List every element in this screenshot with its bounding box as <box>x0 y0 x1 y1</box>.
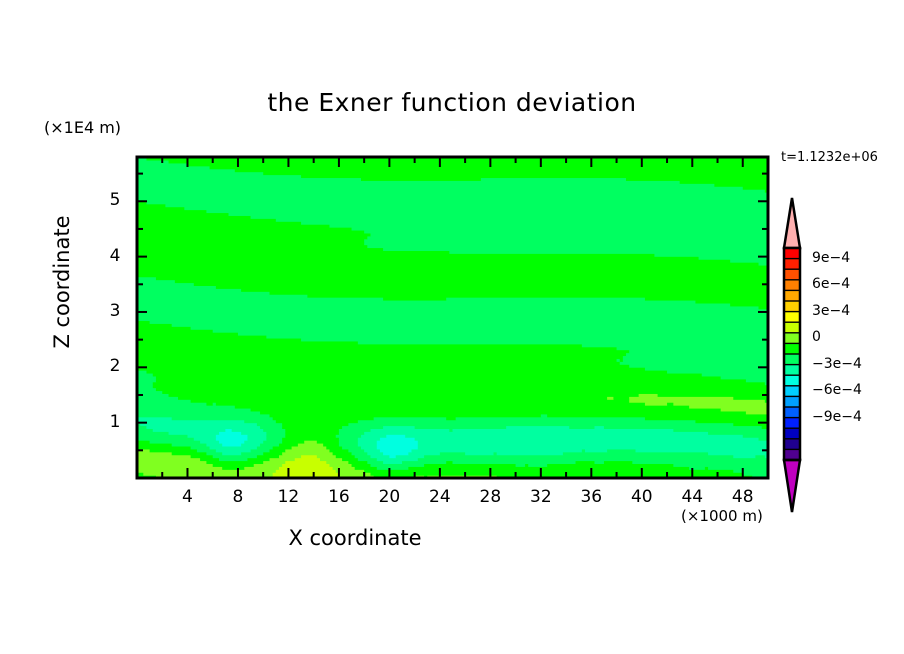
colorbar-tick-label: −9e−4 <box>812 409 862 425</box>
x-tick-label: 12 <box>268 487 308 507</box>
x-tick-label: 20 <box>369 487 409 507</box>
colorbar-tick-label: −6e−4 <box>812 382 862 398</box>
x-tick-label: 32 <box>521 487 561 507</box>
y-tick-label: 4 <box>103 246 127 266</box>
y-tick-label: 1 <box>103 412 127 432</box>
x-tick-label: 48 <box>723 487 763 507</box>
y-tick-label: 2 <box>103 356 127 376</box>
x-tick-label: 36 <box>571 487 611 507</box>
colorbar-tick-label: −3e−4 <box>812 356 862 372</box>
x-tick-label: 44 <box>672 487 712 507</box>
contour-plot-figure: the Exner function deviation (×1E4 m) t=… <box>0 0 904 654</box>
contour-field <box>0 0 904 654</box>
x-tick-label: 28 <box>470 487 510 507</box>
colorbar-tick-label: 3e−4 <box>812 303 850 319</box>
y-tick-label: 5 <box>103 190 127 210</box>
x-tick-label: 16 <box>319 487 359 507</box>
x-tick-label: 4 <box>167 487 207 507</box>
x-tick-label: 24 <box>420 487 460 507</box>
colorbar-tick-label: 6e−4 <box>812 276 850 292</box>
colorbar-tick-label: 9e−4 <box>812 250 850 266</box>
y-tick-label: 3 <box>103 301 127 321</box>
colorbar-tick-label: 0 <box>812 329 821 345</box>
x-tick-label: 40 <box>622 487 662 507</box>
x-tick-label: 8 <box>218 487 258 507</box>
